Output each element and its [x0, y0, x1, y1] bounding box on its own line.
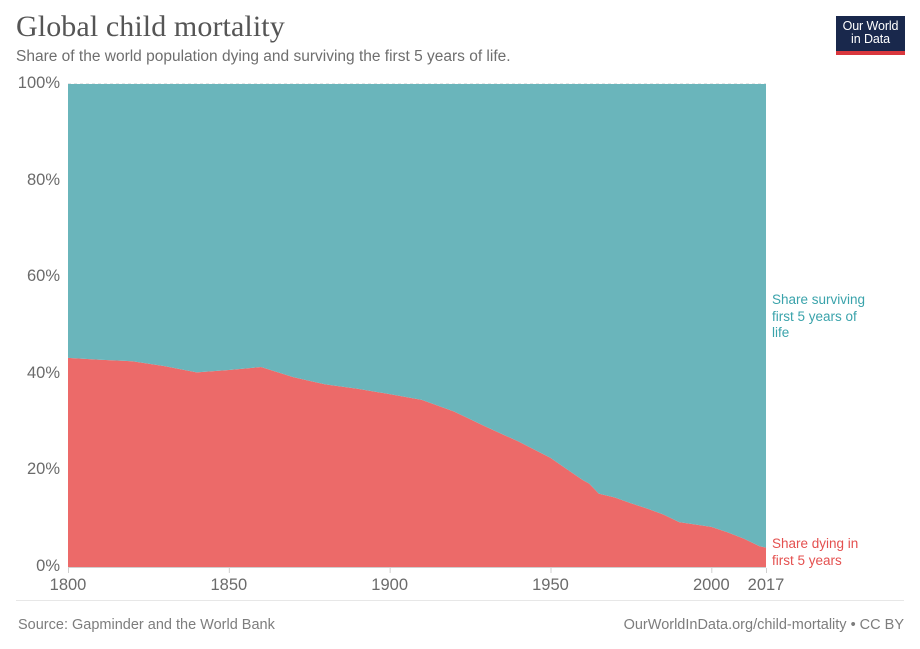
y-axis-tick-label: 100% — [2, 74, 60, 93]
x-axis-ticks — [69, 568, 767, 573]
credit-note: OurWorldInData.org/child-mortality • CC … — [624, 617, 904, 633]
x-axis-tick-label: 2017 — [726, 576, 806, 595]
series-label-dying-line-2: first 5 years — [772, 553, 858, 570]
x-axis-tick-label: 1900 — [350, 576, 430, 595]
series-label-dying-line-1: Share dying in — [772, 536, 858, 553]
x-axis-tick-label: 1950 — [510, 576, 590, 595]
series-label-dying[interactable]: Share dying infirst 5 years — [772, 536, 858, 569]
y-axis-tick-label: 20% — [2, 460, 60, 479]
series-label-surviving-line-3: life — [772, 325, 865, 342]
x-axis-tick-label: 1800 — [28, 576, 108, 595]
y-axis-tick-label: 40% — [2, 364, 60, 383]
footer-divider — [16, 600, 904, 601]
x-axis-tick-label: 1850 — [189, 576, 269, 595]
series-label-surviving-line-1: Share surviving — [772, 292, 865, 309]
series-label-surviving[interactable]: Share survivingfirst 5 years oflife — [772, 292, 865, 342]
y-axis-tick-label: 60% — [2, 267, 60, 286]
chart-page: Global child mortality Share of the worl… — [0, 0, 920, 649]
area-series-group: Share dying in first 5 yearsShare surviv… — [68, 84, 766, 567]
y-axis-tick-label: 0% — [2, 557, 60, 576]
y-axis-tick-label: 80% — [2, 171, 60, 190]
series-label-surviving-line-2: first 5 years of — [772, 309, 865, 326]
source-note: Source: Gapminder and the World Bank — [18, 617, 275, 633]
